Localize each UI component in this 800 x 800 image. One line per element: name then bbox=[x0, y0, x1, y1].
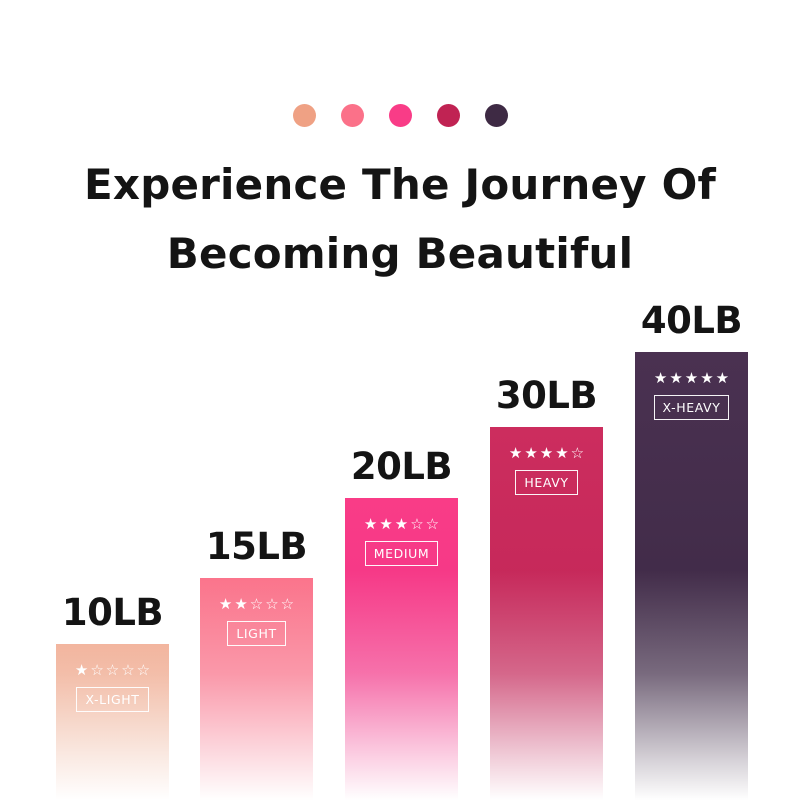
star-filled-icon: ★ bbox=[685, 370, 698, 386]
bar-content: ★★☆☆☆LIGHT bbox=[200, 578, 313, 646]
star-rating: ★★★★☆ bbox=[509, 445, 584, 461]
star-filled-icon: ★ bbox=[716, 370, 729, 386]
bar-chart: 10LB★☆☆☆☆X-LIGHT15LB★★☆☆☆LIGHT20LB★★★☆☆M… bbox=[0, 0, 800, 800]
bar-content: ★★★★★X-HEAVY bbox=[635, 352, 748, 420]
bar-value-label: 20LB bbox=[351, 446, 452, 488]
bar: ★★★★★X-HEAVY bbox=[635, 352, 748, 800]
star-empty-icon: ☆ bbox=[90, 662, 103, 678]
bar: ★★★☆☆MEDIUM bbox=[345, 498, 458, 800]
bar-group-medium[interactable]: 20LB★★★☆☆MEDIUM bbox=[345, 0, 458, 800]
star-empty-icon: ☆ bbox=[121, 662, 134, 678]
star-filled-icon: ★ bbox=[75, 662, 88, 678]
star-empty-icon: ☆ bbox=[410, 516, 423, 532]
bar-group-x-light[interactable]: 10LB★☆☆☆☆X-LIGHT bbox=[56, 0, 169, 800]
star-rating: ★★☆☆☆ bbox=[219, 596, 294, 612]
star-empty-icon: ☆ bbox=[426, 516, 439, 532]
resistance-band-infographic: Experience The Journey Of Becoming Beaut… bbox=[0, 0, 800, 800]
star-filled-icon: ★ bbox=[234, 596, 247, 612]
tier-badge: HEAVY bbox=[515, 470, 577, 495]
star-empty-icon: ☆ bbox=[571, 445, 584, 461]
star-filled-icon: ★ bbox=[509, 445, 522, 461]
bar: ★★★★☆HEAVY bbox=[490, 427, 603, 800]
bar-value-label: 10LB bbox=[62, 592, 163, 634]
bar-value-label: 40LB bbox=[641, 300, 742, 342]
star-filled-icon: ★ bbox=[700, 370, 713, 386]
tier-badge: MEDIUM bbox=[365, 541, 439, 566]
star-filled-icon: ★ bbox=[524, 445, 537, 461]
bar: ★★☆☆☆LIGHT bbox=[200, 578, 313, 800]
star-empty-icon: ☆ bbox=[265, 596, 278, 612]
bar-content: ★☆☆☆☆X-LIGHT bbox=[56, 644, 169, 712]
star-filled-icon: ★ bbox=[219, 596, 232, 612]
star-filled-icon: ★ bbox=[555, 445, 568, 461]
star-filled-icon: ★ bbox=[395, 516, 408, 532]
tier-badge: LIGHT bbox=[227, 621, 285, 646]
star-rating: ★★★☆☆ bbox=[364, 516, 439, 532]
bar-group-x-heavy[interactable]: 40LB★★★★★X-HEAVY bbox=[635, 0, 748, 800]
star-filled-icon: ★ bbox=[669, 370, 682, 386]
tier-badge: X-LIGHT bbox=[76, 687, 148, 712]
star-filled-icon: ★ bbox=[364, 516, 377, 532]
star-rating: ★★★★★ bbox=[654, 370, 729, 386]
bar-group-heavy[interactable]: 30LB★★★★☆HEAVY bbox=[490, 0, 603, 800]
star-rating: ★☆☆☆☆ bbox=[75, 662, 150, 678]
star-empty-icon: ☆ bbox=[137, 662, 150, 678]
star-filled-icon: ★ bbox=[379, 516, 392, 532]
star-filled-icon: ★ bbox=[540, 445, 553, 461]
star-empty-icon: ☆ bbox=[106, 662, 119, 678]
tier-badge: X-HEAVY bbox=[654, 395, 730, 420]
bar-content: ★★★☆☆MEDIUM bbox=[345, 498, 458, 566]
bar: ★☆☆☆☆X-LIGHT bbox=[56, 644, 169, 800]
bar-value-label: 30LB bbox=[496, 375, 597, 417]
bar-group-light[interactable]: 15LB★★☆☆☆LIGHT bbox=[200, 0, 313, 800]
star-empty-icon: ☆ bbox=[250, 596, 263, 612]
star-filled-icon: ★ bbox=[654, 370, 667, 386]
bar-value-label: 15LB bbox=[206, 526, 307, 568]
star-empty-icon: ☆ bbox=[281, 596, 294, 612]
bar-content: ★★★★☆HEAVY bbox=[490, 427, 603, 495]
